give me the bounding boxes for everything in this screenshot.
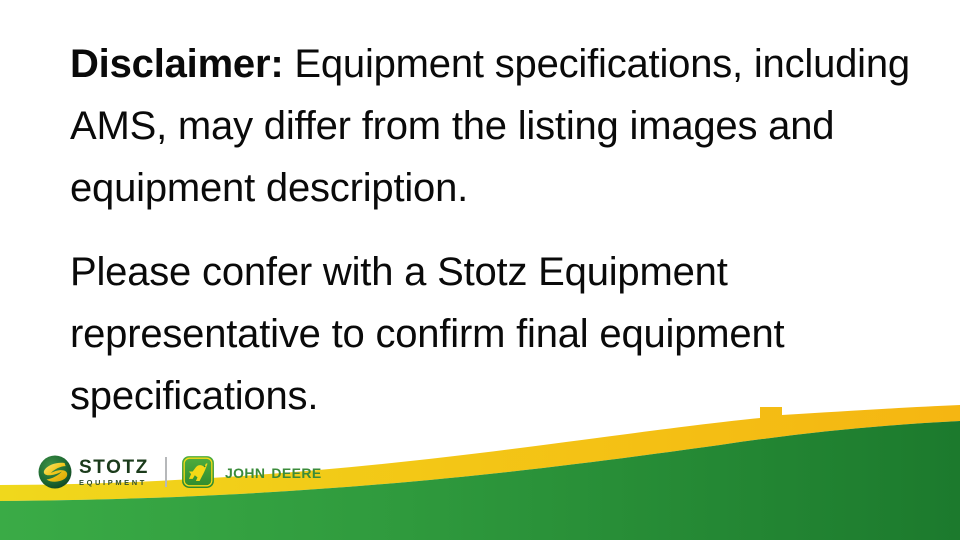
stotz-name: STOTZ bbox=[79, 458, 149, 477]
paragraph-disclaimer: Disclaimer: Equipment specifications, in… bbox=[70, 33, 910, 219]
stotz-wordmark: STOTZ EQUIPMENT bbox=[79, 458, 149, 487]
john-deere-wordmark: John Deere bbox=[225, 461, 322, 484]
stotz-equipment-logo[interactable]: STOTZ EQUIPMENT bbox=[38, 455, 149, 489]
paragraph-confer: Please confer with a Stotz Equipment rep… bbox=[70, 241, 910, 427]
footer-logo-bar: STOTZ EQUIPMENT John Deere bbox=[38, 452, 322, 492]
logo-divider bbox=[165, 457, 167, 487]
stotz-circle-swoosh-icon bbox=[38, 455, 72, 489]
john-deere-logo[interactable]: John Deere bbox=[181, 455, 322, 489]
disclaimer-label: Disclaimer: bbox=[70, 42, 283, 86]
john-deere-leaping-deer-icon bbox=[181, 455, 215, 489]
slide-canvas: Disclaimer: Equipment specifications, in… bbox=[0, 0, 960, 540]
slide-body-text: Disclaimer: Equipment specifications, in… bbox=[70, 33, 910, 427]
stotz-subtitle: EQUIPMENT bbox=[79, 479, 149, 487]
confer-body: Please confer with a Stotz Equipment rep… bbox=[70, 250, 784, 418]
